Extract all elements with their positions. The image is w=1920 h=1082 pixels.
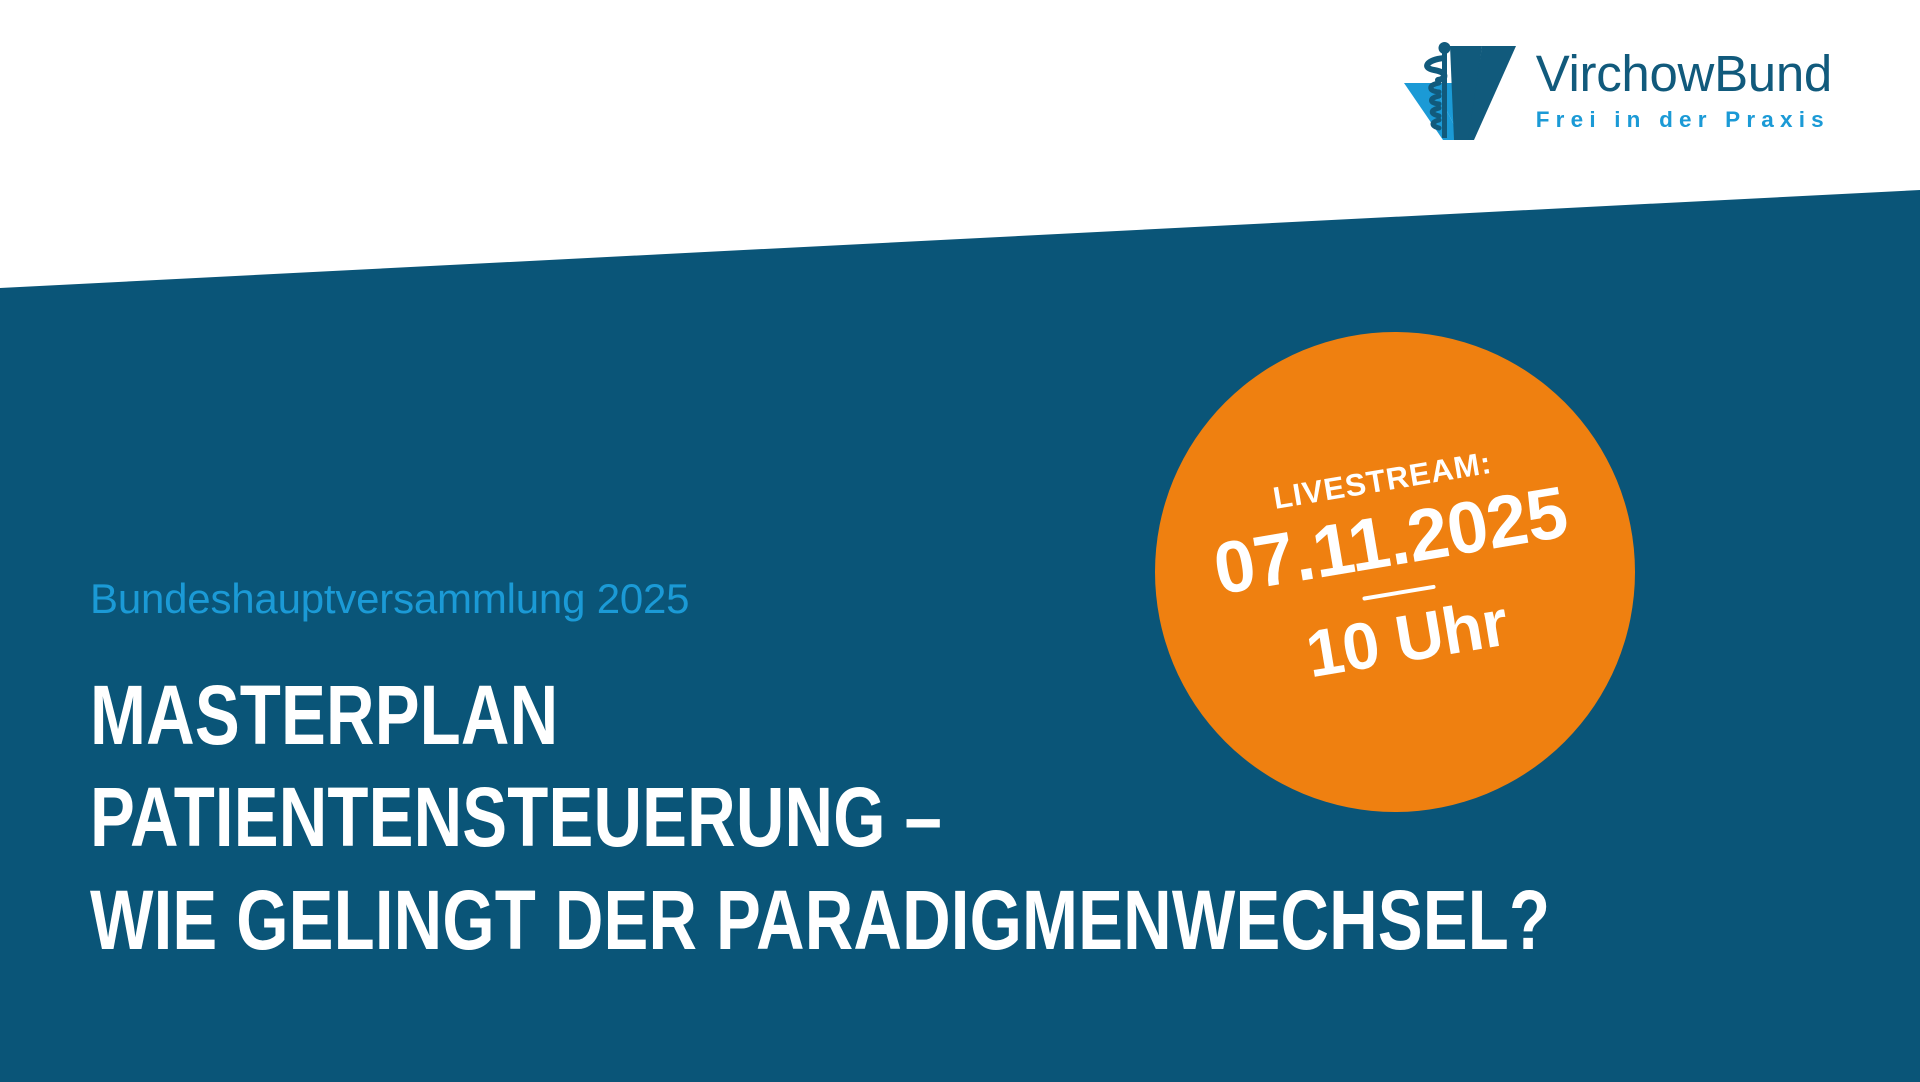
event-announcement-slide: VirchowBund Frei in der Praxis LIVESTREA… (0, 0, 1920, 1082)
headline-line-3: WIE GELINGT DER PARADIGMENWECHSEL? (90, 869, 1498, 971)
headline-line-1: MASTERPLAN (90, 664, 1498, 766)
header: VirchowBund Frei in der Praxis (0, 0, 1920, 190)
headline-line-2: PATIENTENSTEUERUNG – (90, 766, 1498, 868)
event-eyebrow: Bundeshauptversammlung 2025 (90, 578, 1850, 620)
virchowbund-logo[interactable]: VirchowBund Frei in der Praxis (1398, 36, 1832, 140)
page-title: MASTERPLAN PATIENTENSTEUERUNG – WIE GELI… (90, 664, 1498, 971)
virchowbund-v-logo-icon (1398, 36, 1522, 140)
main-copy: Bundeshauptversammlung 2025 MASTERPLAN P… (90, 578, 1850, 971)
logo-wordmark: VirchowBund Frei in der Praxis (1536, 44, 1832, 132)
logo-name: VirchowBund (1536, 48, 1832, 99)
logo-tagline: Frei in der Praxis (1536, 109, 1830, 132)
